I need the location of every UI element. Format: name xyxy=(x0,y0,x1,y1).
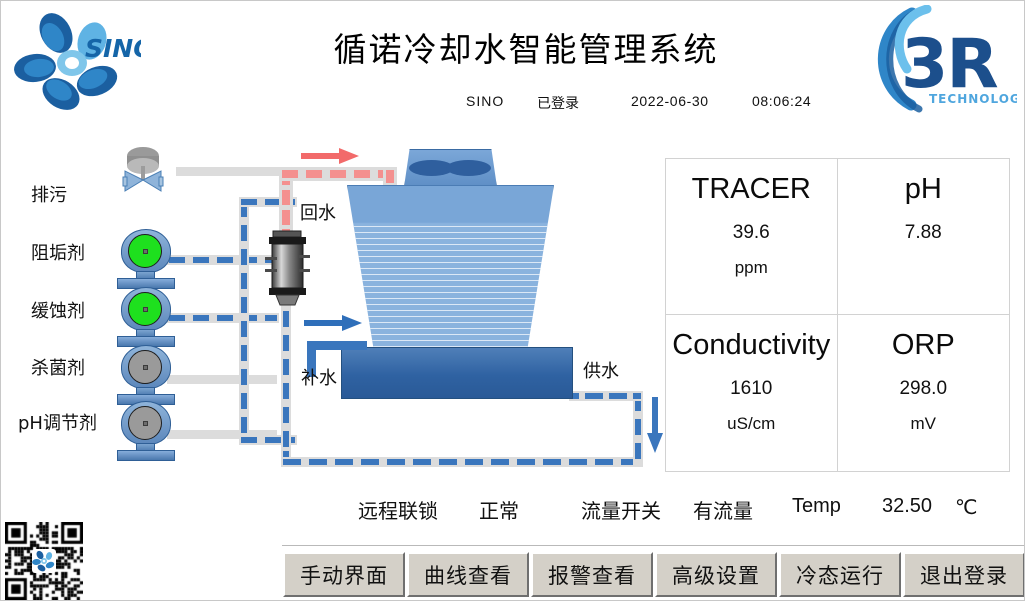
pipe-blowdown xyxy=(176,167,291,176)
tower-basin xyxy=(341,347,573,399)
arrow-return-flow xyxy=(301,147,361,170)
pump-status-indicator xyxy=(128,292,162,326)
system-date: 2022-06-30 xyxy=(631,93,709,109)
temperature-value: 32.50 xyxy=(882,495,932,518)
pipe-corrosion-feed xyxy=(167,313,279,323)
status-bar: 远程联锁 正常 流量开关 有流量 Temp 32.50 ℃ xyxy=(1,495,1025,533)
measurement-cell-orp: ORP 298.0 mV xyxy=(838,315,1010,471)
temperature-label: Temp xyxy=(792,495,841,518)
label-makeup-water: 补水 xyxy=(301,364,337,390)
label-antiscalant: 阻垢剂 xyxy=(31,239,85,265)
water-analyzer-sensor[interactable] xyxy=(265,229,311,307)
measurement-name: Conductivity xyxy=(666,329,837,362)
measurement-value: 298.0 xyxy=(838,378,1010,400)
blowdown-valve[interactable] xyxy=(121,147,193,199)
button-logout[interactable]: 退出登录 xyxy=(903,552,1025,597)
label-return-water: 回水 xyxy=(300,199,336,225)
remote-interlock-value: 正常 xyxy=(479,495,519,524)
pump-corrosion-inhibitor[interactable] xyxy=(117,287,175,347)
logo-sub-text: TECHNOLOGY xyxy=(929,92,1017,106)
pipe-makeup-stub xyxy=(307,341,367,350)
label-supply-water: 供水 xyxy=(583,357,619,383)
pipe-loop-bottom xyxy=(281,457,643,467)
pipe-loop-left-riser xyxy=(239,197,249,445)
pump-status-indicator xyxy=(128,406,162,440)
tower-fill-body xyxy=(347,185,554,351)
fan-blade-right xyxy=(446,160,491,176)
cooling-tower xyxy=(341,149,586,429)
measurement-name: TRACER xyxy=(666,173,837,206)
measurement-value: 1610 xyxy=(666,378,837,400)
temperature-unit: ℃ xyxy=(955,495,977,519)
sino-flower-logo: SINO xyxy=(13,11,141,111)
label-blowdown: 排污 xyxy=(31,181,67,207)
remote-interlock-label: 远程联锁 xyxy=(358,495,438,524)
arrow-supply-flow xyxy=(646,397,664,460)
page-title: 循诺冷却水智能管理系统 xyxy=(301,23,751,71)
pump-status-indicator xyxy=(128,350,162,384)
login-status: 已登录 xyxy=(537,93,579,113)
3r-technology-logo: 3R TECHNOLOGY xyxy=(867,5,1017,117)
label-biocide: 杀菌剂 xyxy=(31,354,85,380)
button-advanced-settings[interactable]: 高级设置 xyxy=(655,552,777,597)
button-cold-start-run[interactable]: 冷态运行 xyxy=(779,552,901,597)
pipe-antiscalant-feed xyxy=(167,255,279,265)
qr-code xyxy=(5,522,83,600)
measurement-cell-conductivity: Conductivity 1610 uS/cm xyxy=(666,315,838,471)
current-user: SINO xyxy=(466,93,504,109)
pump-ph-adjuster[interactable] xyxy=(117,401,175,461)
pump-antiscalant[interactable] xyxy=(117,229,175,289)
label-corrosion-inhibitor: 缓蚀剂 xyxy=(31,297,85,323)
measurement-value: 7.88 xyxy=(838,222,1010,244)
arrow-makeup-flow xyxy=(304,314,364,337)
pipe-biocide-idle xyxy=(167,375,277,384)
measurement-unit: uS/cm xyxy=(666,414,837,434)
process-diagram: 排污 阻垢剂 缓蚀剂 杀菌剂 pH调节剂 xyxy=(1,129,661,479)
measurement-value: 39.6 xyxy=(666,222,837,244)
svg-text:SINO: SINO xyxy=(85,34,141,63)
button-trend-curves[interactable]: 曲线查看 xyxy=(407,552,529,597)
measurement-unit: mV xyxy=(838,414,1010,434)
measurement-cell-ph: pH 7.88 xyxy=(838,159,1010,315)
pipe-loop-right-riser xyxy=(633,391,643,467)
measurement-name: ORP xyxy=(838,329,1010,362)
pump-base xyxy=(117,450,175,461)
flow-switch-label: 流量开关 xyxy=(581,495,661,524)
hmi-screen: SINO 循诺冷却水智能管理系统 SINO 已登录 2022-06-30 08:… xyxy=(0,0,1025,601)
measurement-unit: ppm xyxy=(666,258,837,278)
flow-switch-value: 有流量 xyxy=(693,495,753,524)
header-bar: SINO 循诺冷却水智能管理系统 SINO 已登录 2022-06-30 08:… xyxy=(1,1,1025,126)
pump-biocide[interactable] xyxy=(117,345,175,405)
button-alarm-view[interactable]: 报警查看 xyxy=(531,552,653,597)
measurement-cell-tracer: TRACER 39.6 ppm xyxy=(666,159,838,315)
button-bar: 手动界面 曲线查看 报警查看 高级设置 冷态运行 退出登录 xyxy=(282,545,1025,601)
measurement-name: pH xyxy=(838,173,1010,206)
header-meta: SINO 已登录 2022-06-30 08:06:24 xyxy=(301,93,901,115)
measurement-panel: TRACER 39.6 ppm pH 7.88 Conductivity 161… xyxy=(665,158,1010,472)
tower-fill-slats xyxy=(348,186,553,350)
system-time: 08:06:24 xyxy=(752,93,811,109)
label-ph-adjuster: pH调节剂 xyxy=(18,409,97,435)
pump-status-indicator xyxy=(128,234,162,268)
button-manual-interface[interactable]: 手动界面 xyxy=(283,552,405,597)
qr-center-logo xyxy=(32,549,56,573)
